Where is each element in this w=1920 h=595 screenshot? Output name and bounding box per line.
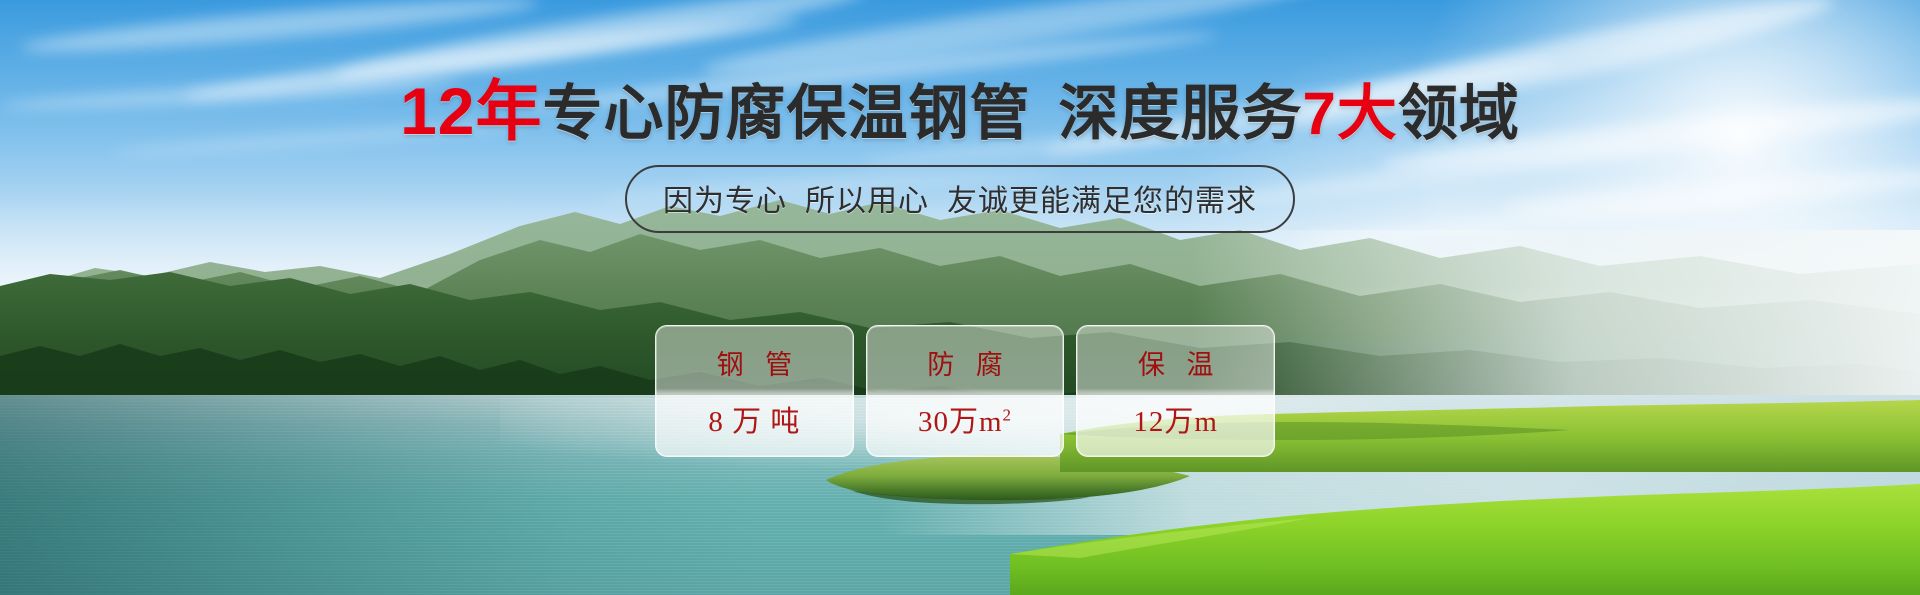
subtitle-seg-1: 因为专心 (663, 185, 787, 218)
subtitle-container: 因为专心所以用心友诚更能满足您的需求 (0, 165, 1920, 233)
headline: 12年专心防腐保温钢管深度服务7大领域 (0, 78, 1920, 144)
stat-value-text: 8 万 吨 (708, 406, 800, 438)
headline-main: 专心防腐保温钢管 (543, 80, 1031, 147)
stat-label: 保 温 (1131, 343, 1221, 382)
hero-banner: 12年专心防腐保温钢管深度服务7大领域 因为专心所以用心友诚更能满足您的需求 钢… (0, 0, 1920, 595)
stat-card-group: 钢 管 8 万 吨 防 腐 30万m2 保 温 12万m (655, 325, 1275, 455)
headline-service: 深度服务 (1059, 80, 1303, 147)
stat-label: 钢 管 (710, 343, 800, 382)
headline-years: 12年 (400, 74, 542, 148)
subtitle-seg-2: 所以用心 (805, 185, 929, 218)
headline-fields: 领域 (1398, 80, 1520, 147)
stat-label: 防 腐 (920, 343, 1010, 382)
stat-card-steel-pipe: 钢 管 8 万 吨 (655, 325, 854, 457)
stat-value: 30万m2 (918, 398, 1012, 440)
stat-value: 12万m (1133, 398, 1218, 440)
subtitle-pill: 因为专心所以用心友诚更能满足您的需求 (625, 165, 1295, 233)
stat-value-superscript: 2 (1003, 405, 1013, 424)
headline-seven-fields: 7大 (1303, 80, 1398, 147)
stat-value: 8 万 吨 (708, 398, 800, 440)
subtitle-seg-3: 友诚更能满足您的需求 (947, 185, 1257, 218)
foreground-grass (1010, 480, 1920, 595)
stat-card-anticorrosion: 防 腐 30万m2 (866, 325, 1065, 457)
stat-card-insulation: 保 温 12万m (1076, 325, 1275, 457)
stat-value-text: 30万m (918, 406, 1003, 438)
stat-value-text: 12万m (1133, 406, 1218, 438)
